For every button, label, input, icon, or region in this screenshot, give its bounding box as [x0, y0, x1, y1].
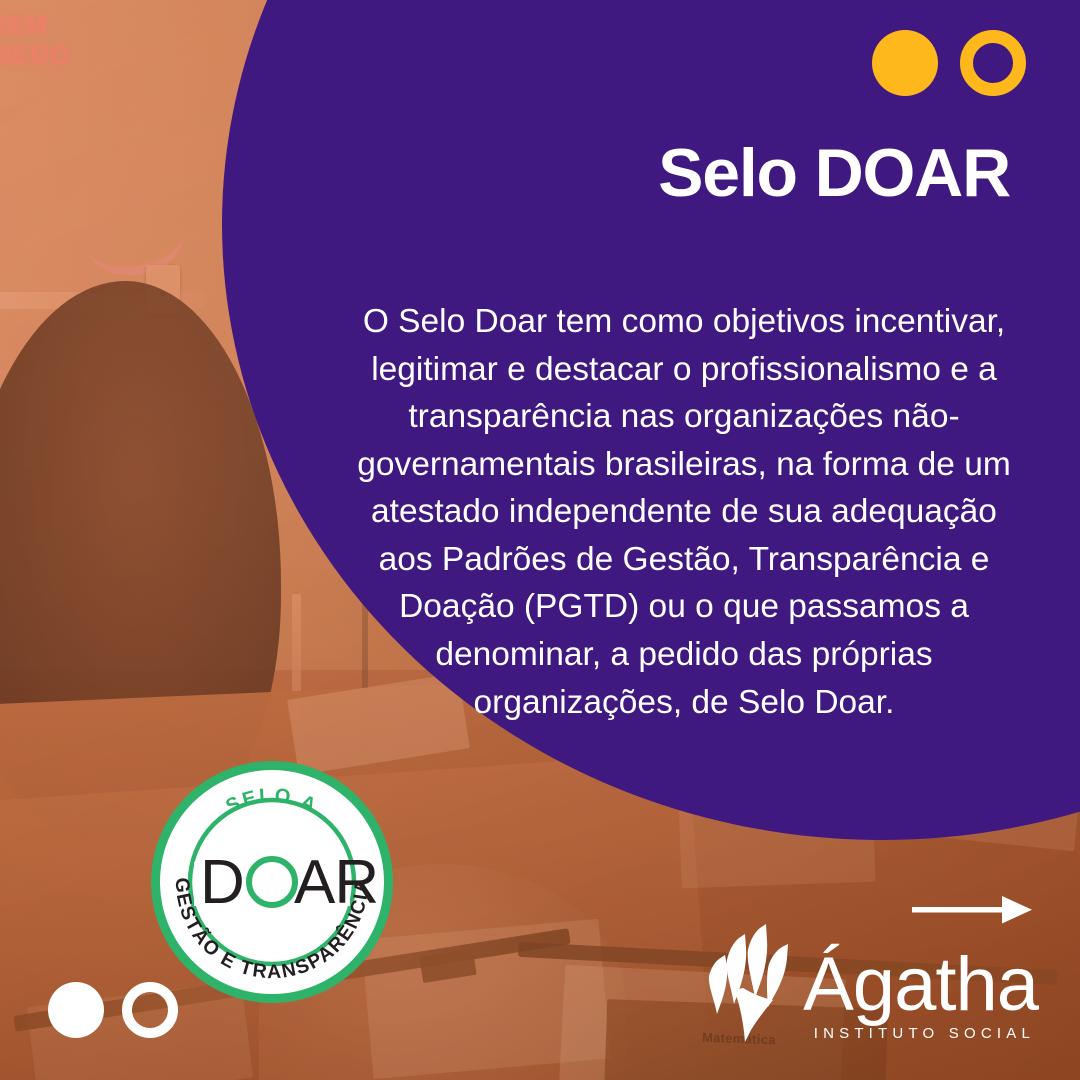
brand-tagline: INSTITUTO SOCIAL	[814, 1025, 1035, 1042]
svg-text:AR: AR	[294, 848, 378, 917]
outline-circle-icon	[122, 982, 178, 1038]
filled-circle-icon	[48, 982, 104, 1038]
brand-wordmark: Ágatha INSTITUTO SOCIAL	[803, 951, 1038, 1042]
brand-name: Ágatha	[803, 951, 1038, 1019]
next-slide-arrow[interactable]	[912, 893, 1032, 927]
svg-text:D: D	[200, 848, 244, 917]
body-text: O Selo Doar tem como objetivos incentiva…	[344, 298, 1024, 726]
doar-seal-badge: SELO A GESTÃO E TRANSPARÊNCIA D AR	[148, 758, 396, 1006]
outline-circle-icon	[960, 30, 1026, 96]
filled-circle-icon	[872, 30, 938, 96]
agatha-hand-icon	[703, 924, 795, 1042]
arrow-right-icon	[912, 893, 1032, 927]
social-post-card: SEM MEDO Matemática Selo DOAR O S	[0, 0, 1080, 1080]
top-right-dots	[872, 30, 1026, 96]
page-title: Selo DOAR	[300, 136, 1010, 211]
brand-logo: Ágatha INSTITUTO SOCIAL	[703, 924, 1038, 1042]
bottom-left-dots	[48, 982, 178, 1038]
